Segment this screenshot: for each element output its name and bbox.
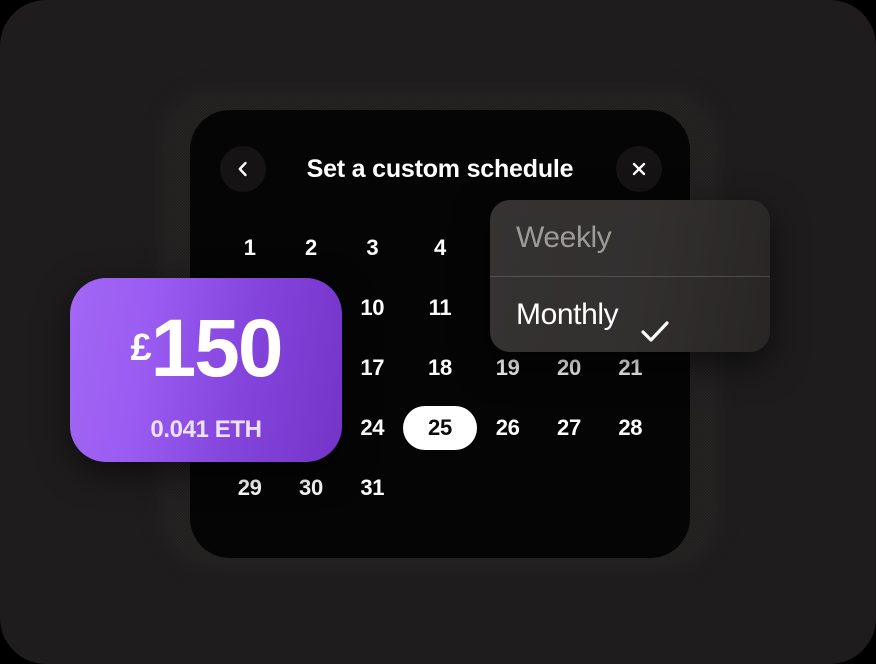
calendar-day[interactable]: 10	[351, 291, 393, 325]
calendar-day[interactable]: 19	[487, 351, 529, 385]
calendar-cell: 30	[280, 458, 341, 518]
page-title: Set a custom schedule	[190, 134, 690, 204]
calendar-day[interactable]: 26	[487, 411, 529, 445]
calendar-day[interactable]: 24	[351, 411, 393, 445]
calendar-day[interactable]: 2	[290, 231, 332, 265]
calendar-day[interactable]: 3	[351, 231, 393, 265]
amount-display: £150	[70, 302, 342, 396]
calendar-cell: 24	[342, 398, 403, 458]
calendar-day[interactable]: 20	[548, 351, 590, 385]
amount-value: 150	[151, 303, 282, 394]
close-icon	[629, 159, 649, 179]
calendar-day[interactable]: 28	[609, 411, 651, 445]
calendar-cell: 2	[280, 218, 341, 278]
calendar-day-selected[interactable]: 25	[403, 406, 477, 450]
close-button[interactable]	[616, 146, 662, 192]
calendar-cell: 10	[342, 278, 403, 338]
calendar-cell: 26	[477, 398, 538, 458]
check-icon	[640, 319, 670, 350]
calendar-cell: 17	[342, 338, 403, 398]
frequency-dropdown[interactable]: WeeklyMonthly	[490, 200, 770, 352]
amount-card[interactable]: £150 0.041 ETH	[70, 278, 342, 462]
calendar-day[interactable]: 30	[290, 471, 332, 505]
frequency-option-monthly[interactable]: Monthly	[490, 276, 770, 352]
calendar-cell: 29	[219, 458, 280, 518]
calendar-cell: 3	[342, 218, 403, 278]
calendar-day[interactable]: 29	[229, 471, 271, 505]
calendar-cell: 25	[403, 398, 477, 458]
calendar-day[interactable]: 27	[548, 411, 590, 445]
currency-symbol: £	[131, 327, 151, 369]
calendar-cell: 1	[219, 218, 280, 278]
frequency-option-weekly[interactable]: Weekly	[490, 200, 770, 276]
calendar-cell: 28	[600, 398, 661, 458]
calendar-day[interactable]: 4	[419, 231, 461, 265]
screen: Set a custom schedule 123456789101112131…	[0, 0, 876, 664]
modal-header: Set a custom schedule	[190, 134, 690, 198]
crypto-amount: 0.041 ETH	[70, 416, 342, 444]
calendar-day[interactable]: 21	[609, 351, 651, 385]
calendar-cell: 4	[403, 218, 477, 278]
calendar-cell: 11	[403, 278, 477, 338]
calendar-cell: 31	[342, 458, 403, 518]
frequency-option-label: Weekly	[516, 221, 611, 255]
frequency-option-label: Monthly	[516, 298, 618, 332]
calendar-day[interactable]: 18	[419, 351, 461, 385]
calendar-cell: 18	[403, 338, 477, 398]
calendar-cell: 27	[538, 398, 599, 458]
calendar-day[interactable]: 31	[351, 471, 393, 505]
calendar-day[interactable]: 11	[419, 291, 461, 325]
calendar-day[interactable]: 17	[351, 351, 393, 385]
calendar-day[interactable]: 1	[229, 231, 271, 265]
